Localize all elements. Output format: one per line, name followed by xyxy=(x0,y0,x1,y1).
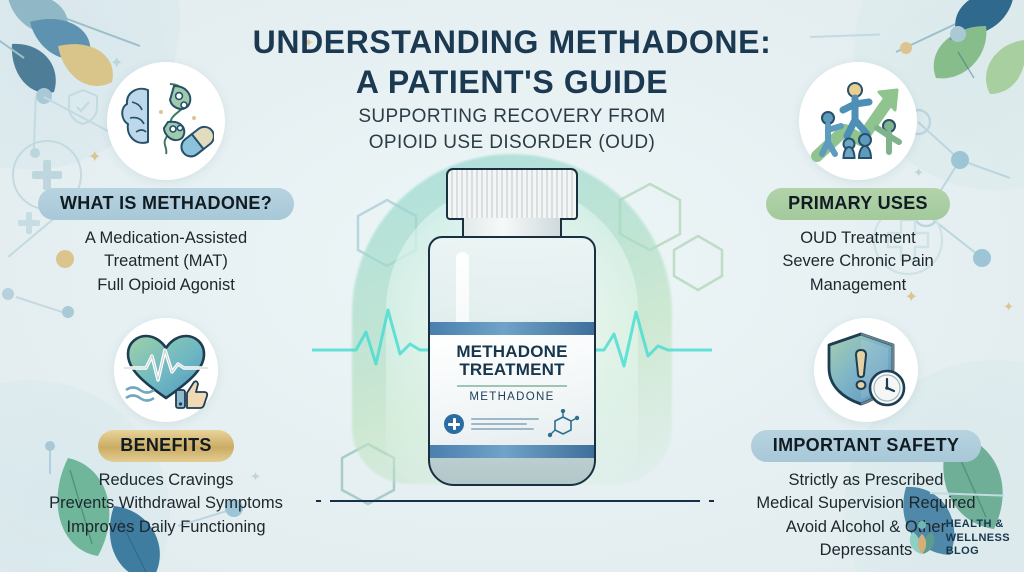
badge-primary-uses: PRIMARY USES xyxy=(766,188,950,220)
logo-line-3: BLOG xyxy=(946,545,1010,558)
logo-line-2: WELLNESS xyxy=(946,532,1010,545)
what-is-line-1: A Medication-Assisted xyxy=(16,227,316,250)
section-what-is-methadone: WHAT IS METHADONE? A Medication-Assisted… xyxy=(16,62,316,297)
shield-alert-clock-icon xyxy=(823,330,909,410)
bottle-label-title-line-1: METHADONE xyxy=(430,343,594,361)
bottle-neck xyxy=(462,218,562,238)
heart-heartbeat-thumbsup-icon xyxy=(122,330,210,410)
badge-what-is-methadone: WHAT IS METHADONE? xyxy=(38,188,294,220)
primary-uses-icon-circle xyxy=(799,62,917,180)
bottle-label-text-lines xyxy=(471,415,539,433)
molecule-node-icon xyxy=(2,288,14,300)
badge-important-safety: IMPORTANT SAFETY xyxy=(751,430,981,462)
what-is-methadone-icon-circle xyxy=(107,62,225,180)
molecule-link xyxy=(16,296,64,313)
benefits-line-3: Improves Daily Functioning xyxy=(16,516,316,539)
bottle-label: METHADONE TREATMENT METHADONE xyxy=(430,335,594,445)
sparkle-gold-icon: ✦ xyxy=(1003,300,1014,313)
primary-uses-line-3: Management xyxy=(708,274,1008,297)
bottle-label-title: METHADONE TREATMENT xyxy=(430,343,594,379)
bottle-stripe-top xyxy=(430,322,594,335)
section-primary-uses: PRIMARY USES OUD Treatment Severe Chroni… xyxy=(708,62,1008,297)
title-line-1: UNDERSTANDING METHADONE: xyxy=(0,22,1024,62)
bottle-ground-line xyxy=(330,500,700,502)
important-safety-icon-circle xyxy=(814,318,918,422)
bottle-label-title-line-2: TREATMENT xyxy=(430,361,594,379)
brain-neuron-pill-icon xyxy=(118,78,214,164)
safety-line-2: Medical Supervision Required xyxy=(716,492,1016,515)
logo-line-1: HEALTH & xyxy=(946,518,1010,531)
people-growth-arrow-icon xyxy=(809,78,907,164)
pill-bottle: METHADONE TREATMENT METHADONE xyxy=(422,168,602,498)
bottle-body: METHADONE TREATMENT METHADONE xyxy=(428,236,596,486)
leaf-person-logo-icon xyxy=(905,520,939,556)
what-is-line-3: Full Opioid Agonist xyxy=(16,274,316,297)
bottle-stripe-bottom xyxy=(430,445,594,458)
site-logo-text: HEALTH & WELLNESS BLOG xyxy=(946,518,1010,558)
what-is-line-2: Treatment (MAT) xyxy=(16,250,316,273)
bottle-label-subtitle: METHADONE xyxy=(430,391,594,403)
site-logo[interactable]: HEALTH & WELLNESS BLOG xyxy=(905,518,1010,558)
primary-uses-text: OUD Treatment Severe Chronic Pain Manage… xyxy=(708,227,1008,297)
section-benefits: BENEFITS Reduces Cravings Prevents Withd… xyxy=(16,318,316,539)
benefits-text: Reduces Cravings Prevents Withdrawal Sym… xyxy=(16,469,316,539)
medical-plus-badge-icon xyxy=(444,414,464,434)
infographic-root: ✦ ✦ ✦ ✦ ✦ ✦ ✦ ✦ UNDERSTANDING METHADONE:… xyxy=(0,0,1024,572)
safety-line-1: Strictly as Prescribed xyxy=(716,469,1016,492)
methadone-bottle-illustration: METHADONE TREATMENT METHADONE xyxy=(312,140,712,540)
bottle-cap xyxy=(446,168,578,220)
bottle-label-details-row xyxy=(444,409,580,439)
benefits-icon-circle xyxy=(114,318,218,422)
primary-uses-line-1: OUD Treatment xyxy=(708,227,1008,250)
badge-benefits: BENEFITS xyxy=(98,430,233,462)
molecule-node-icon xyxy=(62,306,74,318)
benefits-line-1: Reduces Cravings xyxy=(16,469,316,492)
bottle-label-divider xyxy=(457,385,567,387)
primary-uses-line-2: Severe Chronic Pain xyxy=(708,250,1008,273)
benefits-line-2: Prevents Withdrawal Symptoms xyxy=(16,492,316,515)
what-is-methadone-text: A Medication-Assisted Treatment (MAT) Fu… xyxy=(16,227,316,297)
molecule-structure-icon xyxy=(546,409,580,439)
